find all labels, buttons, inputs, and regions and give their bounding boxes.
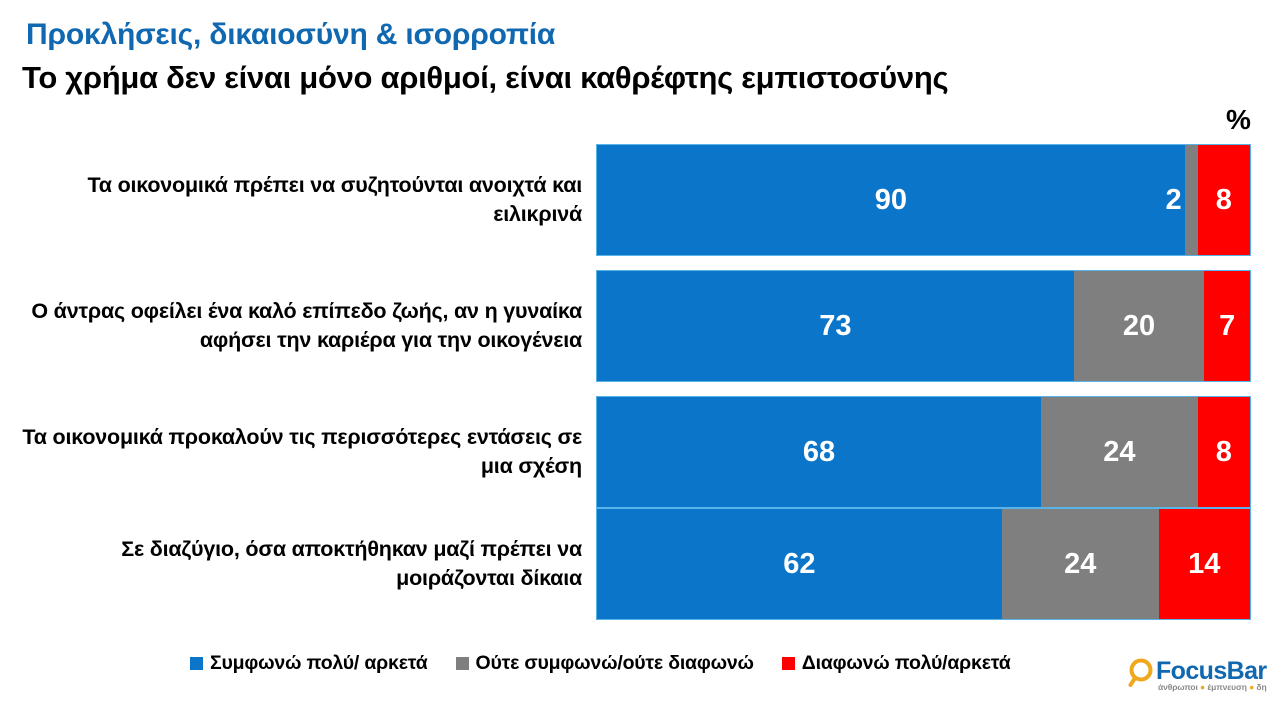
- bar-segment-agree[interactable]: 62: [597, 509, 1002, 619]
- bar-segment-neutral[interactable]: 24: [1002, 509, 1159, 619]
- bar-value-neutral: 2: [1166, 184, 1182, 217]
- logo-tagline-word-1: άνθρωποι: [1158, 682, 1198, 692]
- chart-row: Τα οικονομικά πρέπει να συζητούνται ανοι…: [0, 145, 1267, 255]
- legend-item-neutral[interactable]: Ούτε συμφωνώ/ούτε διαφωνώ: [456, 652, 754, 675]
- focusbari-logo: FocusBari άνθρωποι ● έμπνευση ● δημιουργ…: [1128, 652, 1267, 702]
- legend-swatch-icon: [456, 657, 469, 670]
- bar-value-neutral: 24: [1103, 436, 1135, 469]
- bar-track: 90 2 8: [597, 145, 1250, 255]
- bar-value-neutral: 20: [1123, 310, 1155, 343]
- stacked-bar-chart: Τα οικονομικά πρέπει να συζητούνται ανοι…: [0, 140, 1267, 640]
- bar-segment-agree[interactable]: 73: [597, 271, 1074, 381]
- bar-track: 62 24 14: [597, 509, 1250, 619]
- legend-swatch-icon: [190, 657, 203, 670]
- bar-segment-neutral[interactable]: 24: [1041, 397, 1198, 507]
- bar-segment-agree[interactable]: 68: [597, 397, 1041, 507]
- bar-segment-neutral[interactable]: 20: [1074, 271, 1205, 381]
- magnifying-glass-icon: [1128, 658, 1158, 688]
- bar-segment-disagree[interactable]: 7: [1204, 271, 1250, 381]
- bar-value-disagree: 14: [1188, 548, 1220, 581]
- legend-label: Συμφωνώ πολύ/ αρκετά: [210, 652, 428, 675]
- bar-value-agree: 68: [803, 436, 835, 469]
- chart-legend: Συμφωνώ πολύ/ αρκετά Ούτε συμφωνώ/ούτε δ…: [190, 652, 1011, 675]
- logo-tagline: άνθρωποι ● έμπνευση ● δημιουργία: [1158, 682, 1267, 692]
- bar-value-neutral: 24: [1064, 548, 1096, 581]
- bar-segment-disagree[interactable]: 14: [1159, 509, 1250, 619]
- category-label: Τα οικονομικά πρέπει να συζητούνται ανοι…: [10, 145, 582, 255]
- logo-tagline-word-2: έμπνευση: [1207, 682, 1246, 692]
- logo-tagline-word-3: δημιουργία: [1256, 682, 1267, 692]
- legend-item-disagree[interactable]: Διαφωνώ πολύ/αρκετά: [782, 652, 1011, 675]
- legend-swatch-icon: [782, 657, 795, 670]
- bar-track: 68 24 8: [597, 397, 1250, 507]
- bar-value-disagree: 8: [1216, 184, 1232, 217]
- bar-segment-disagree[interactable]: 8: [1198, 145, 1250, 255]
- legend-item-agree[interactable]: Συμφωνώ πολύ/ αρκετά: [190, 652, 428, 675]
- bar-segment-neutral[interactable]: 2: [1185, 145, 1198, 255]
- chart-row: Ο άντρας οφείλει ένα καλό επίπεδο ζωής, …: [0, 271, 1267, 381]
- category-label: Τα οικονομικά προκαλούν τις περισσότερες…: [10, 397, 582, 507]
- bar-track: 73 20 7: [597, 271, 1250, 381]
- chart-kicker-title: Προκλήσεις, δικαιοσύνη & ισορροπία: [26, 18, 555, 52]
- category-label: Ο άντρας οφείλει ένα καλό επίπεδο ζωής, …: [10, 271, 582, 381]
- percent-axis-label: %: [1226, 104, 1251, 136]
- bar-segment-disagree[interactable]: 8: [1198, 397, 1250, 507]
- bar-value-agree: 90: [875, 184, 907, 217]
- legend-label: Ούτε συμφωνώ/ούτε διαφωνώ: [476, 652, 754, 675]
- chart-row: Τα οικονομικά προκαλούν τις περισσότερες…: [0, 397, 1267, 507]
- logo-tagline-separator: ●: [1249, 682, 1254, 692]
- category-label: Σε διαζύγιο, όσα αποκτήθηκαν μαζί πρέπει…: [10, 509, 582, 619]
- chart-row: Σε διαζύγιο, όσα αποκτήθηκαν μαζί πρέπει…: [0, 509, 1267, 619]
- bar-value-disagree: 8: [1216, 436, 1232, 469]
- bar-value-agree: 62: [783, 548, 815, 581]
- legend-label: Διαφωνώ πολύ/αρκετά: [802, 652, 1011, 675]
- bar-value-disagree: 7: [1219, 310, 1235, 343]
- bar-value-agree: 73: [819, 310, 851, 343]
- bar-segment-agree[interactable]: 90: [597, 145, 1185, 255]
- logo-tagline-separator: ●: [1200, 682, 1205, 692]
- chart-main-title: Το χρήμα δεν είναι μόνο αριθμοί, είναι κ…: [22, 60, 948, 96]
